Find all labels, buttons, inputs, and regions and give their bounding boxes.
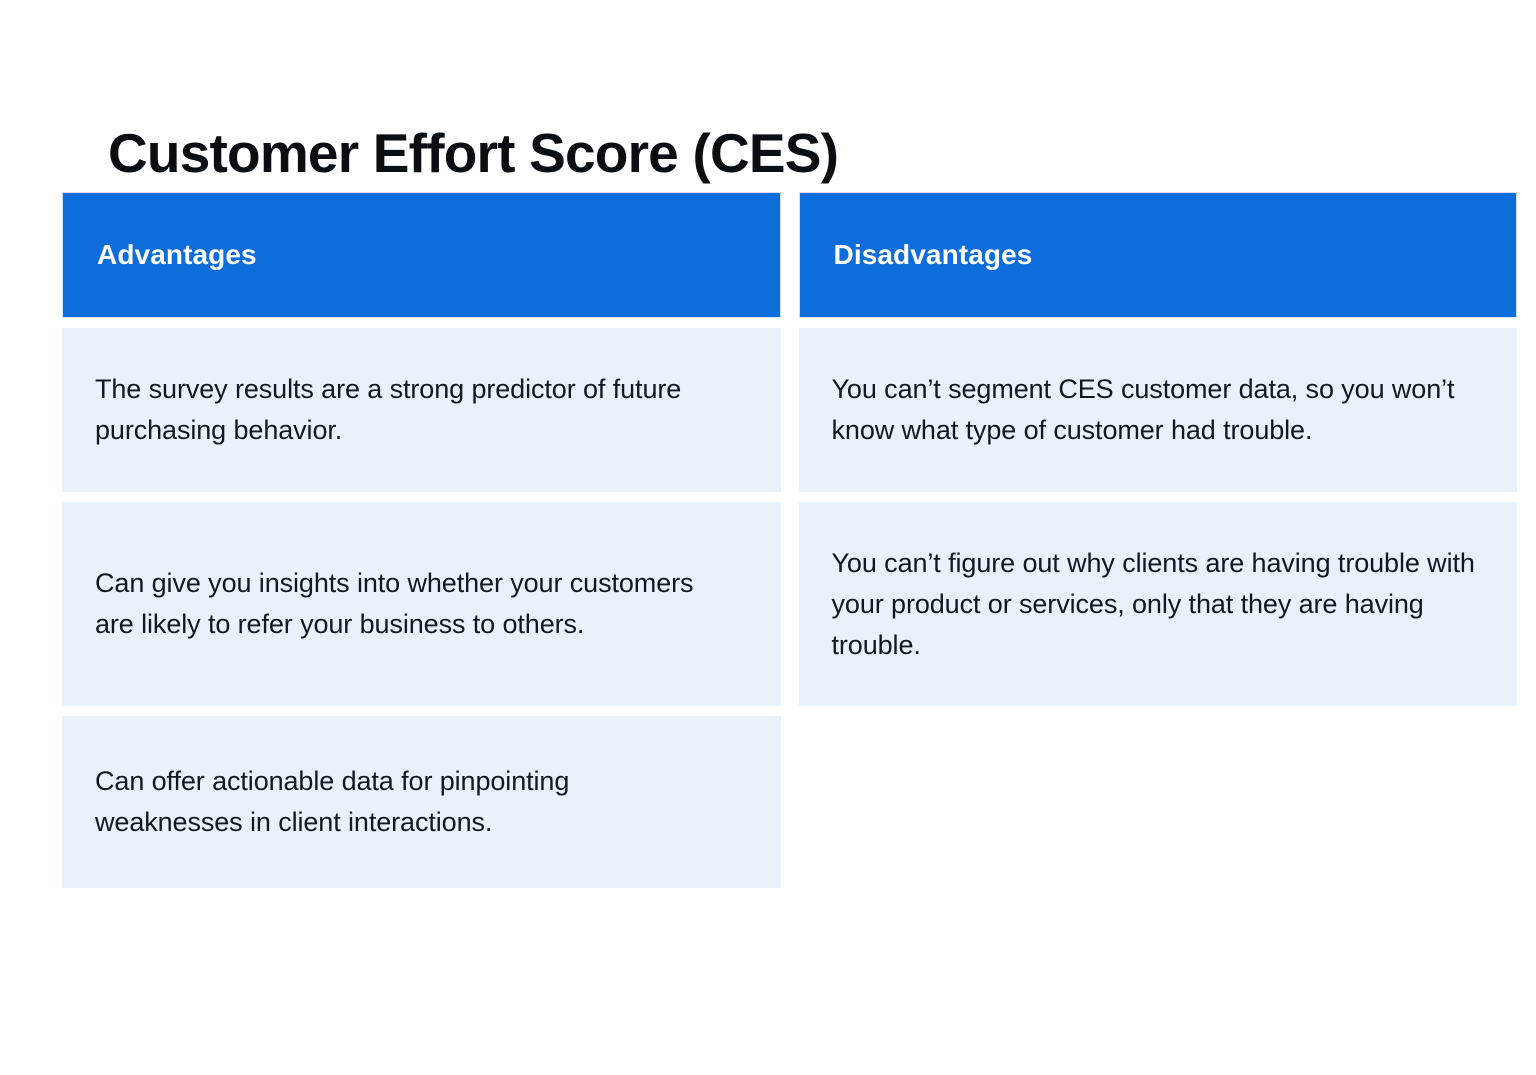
table-cell: You can’t segment CES customer data, so … — [799, 328, 1518, 492]
slide-canvas: Customer Effort Score (CES) Advantages T… — [0, 0, 1536, 1075]
cell-text: You can’t figure out why clients are hav… — [832, 543, 1484, 666]
comparison-table: Advantages The survey results are a stro… — [62, 192, 1517, 888]
column-advantages: Advantages The survey results are a stro… — [62, 192, 781, 888]
column-header-advantages: Advantages — [62, 192, 781, 318]
cell-text: Can offer actionable data for pinpointin… — [95, 761, 715, 843]
table-cell: You can’t figure out why clients are hav… — [799, 502, 1518, 706]
table-cell: The survey results are a strong predicto… — [62, 328, 781, 492]
column-header-label: Disadvantages — [834, 238, 1033, 272]
table-cell: Can give you insights into whether your … — [62, 502, 781, 706]
cell-text: You can’t segment CES customer data, so … — [832, 369, 1484, 451]
cell-text: Can give you insights into whether your … — [95, 563, 715, 645]
page-title: Customer Effort Score (CES) — [108, 125, 838, 183]
table-cell: Can offer actionable data for pinpointin… — [62, 716, 781, 888]
column-header-disadvantages: Disadvantages — [799, 192, 1518, 318]
cell-text: The survey results are a strong predicto… — [95, 369, 715, 451]
column-header-label: Advantages — [97, 238, 257, 272]
column-disadvantages: Disadvantages You can’t segment CES cust… — [799, 192, 1518, 706]
